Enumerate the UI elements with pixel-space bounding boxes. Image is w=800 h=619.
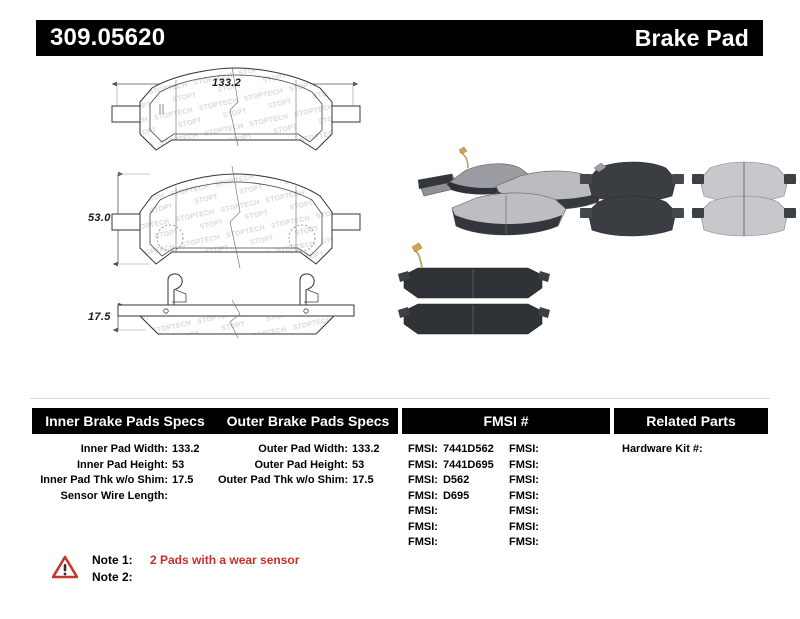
- fmsi-value: [544, 489, 610, 505]
- column-outer-specs: Outer Brake Pads Specs Outer Pad Width: …: [218, 408, 398, 489]
- fmsi-key: FMSI:: [408, 504, 443, 520]
- spec-label: Outer Pad Thk w/o Shim:: [218, 473, 352, 489]
- fmsi-row: FMSI:: [509, 489, 610, 505]
- note-row: Note 2:: [92, 569, 299, 586]
- fmsi-value: D695: [443, 489, 509, 505]
- fmsi-row: FMSI:: [408, 535, 509, 551]
- fmsi-value: [544, 535, 610, 551]
- photo-flatlay-pad-set: [580, 162, 796, 236]
- fmsi-row: FMSI:: [509, 473, 610, 489]
- specifications-table: Inner Brake Pads Specs Inner Pad Width: …: [32, 408, 768, 551]
- fmsi-value: [544, 520, 610, 536]
- fmsi-value: [544, 473, 610, 489]
- fmsi-row: FMSI:: [509, 442, 610, 458]
- column-related-parts: Related Parts Hardware Kit #:: [614, 408, 768, 458]
- spec-value: 53: [172, 458, 218, 474]
- fmsi-value: D562: [443, 473, 509, 489]
- fmsi-key: FMSI:: [509, 442, 544, 458]
- page-title: Brake Pad: [635, 25, 749, 52]
- fmsi-value: [544, 458, 610, 474]
- fmsi-key: FMSI:: [509, 473, 544, 489]
- warning-triangle-icon: [52, 555, 78, 579]
- part-number: 309.05620: [50, 24, 165, 52]
- fmsi-key: FMSI:: [509, 520, 544, 536]
- fmsi-value: 7441D695: [443, 458, 509, 474]
- spec-label: Inner Pad Height:: [32, 458, 172, 474]
- table-top-divider: [30, 398, 770, 399]
- spec-value: 133.2: [352, 442, 398, 458]
- spec-label: Inner Pad Width:: [32, 442, 172, 458]
- fmsi-value: [443, 535, 509, 551]
- spec-row: Sensor Wire Length:: [32, 489, 218, 505]
- spec-row: Outer Pad Height: 53: [218, 458, 398, 474]
- note-value: [144, 569, 150, 586]
- fmsi-key: FMSI:: [408, 535, 443, 551]
- fmsi-row: FMSI: 7441D695: [408, 458, 509, 474]
- fmsi-row: FMSI:: [509, 504, 610, 520]
- technical-drawings-svg: STOPTECH STOPTECH: [0, 62, 800, 392]
- fmsi-key: FMSI:: [509, 489, 544, 505]
- fmsi-key: FMSI:: [408, 489, 443, 505]
- drawing-edge-view: [118, 274, 354, 338]
- fmsi-key: FMSI:: [408, 458, 443, 474]
- spec-value: 53: [352, 458, 398, 474]
- column-body-fmsi: FMSI: 7441D562 FMSI: 7441D695 FMSI: D562…: [402, 434, 610, 551]
- fmsi-row: FMSI: D695: [408, 489, 509, 505]
- fmsi-value: [544, 504, 610, 520]
- spec-row: Inner Pad Thk w/o Shim: 17.5: [32, 473, 218, 489]
- drawing-area: STOPTECH STOPTECH: [0, 62, 800, 392]
- photo-angled-pad-set: [418, 147, 604, 235]
- fmsi-key: FMSI:: [408, 520, 443, 536]
- column-body-outer-specs: Outer Pad Width: 133.2 Outer Pad Height:…: [218, 434, 398, 489]
- fmsi-row: FMSI:: [509, 520, 610, 536]
- spec-value: 133.2: [172, 442, 218, 458]
- fmsi-value: 7441D562: [443, 442, 509, 458]
- column-inner-specs: Inner Brake Pads Specs Inner Pad Width: …: [32, 408, 218, 504]
- related-parts-row: Hardware Kit #:: [614, 442, 768, 458]
- drawing-front-view: [112, 166, 360, 268]
- fmsi-row: FMSI:: [408, 520, 509, 536]
- fmsi-row: FMSI: 7441D562: [408, 442, 509, 458]
- fmsi-key: FMSI:: [408, 442, 443, 458]
- fmsi-key: FMSI:: [509, 504, 544, 520]
- spec-label: Sensor Wire Length:: [32, 489, 172, 505]
- notes-lines: Note 1: 2 Pads with a wear sensor Note 2…: [92, 552, 299, 586]
- note-value: 2 Pads with a wear sensor: [144, 552, 299, 569]
- spec-value: 17.5: [172, 473, 218, 489]
- column-body-inner-specs: Inner Pad Width: 133.2 Inner Pad Height:…: [32, 434, 218, 504]
- spec-value: 17.5: [352, 473, 398, 489]
- fmsi-row: FMSI: D562: [408, 473, 509, 489]
- fmsi-value: [443, 520, 509, 536]
- fmsi-row: FMSI:: [509, 535, 610, 551]
- spec-row: Inner Pad Width: 133.2: [32, 442, 218, 458]
- dimension-label-width: 133.2: [212, 77, 241, 89]
- notes-section: Note 1: 2 Pads with a wear sensor Note 2…: [52, 552, 299, 586]
- note-key: Note 2:: [92, 569, 144, 586]
- column-header-fmsi: FMSI #: [402, 408, 610, 434]
- fmsi-key: FMSI:: [408, 473, 443, 489]
- column-header-related-parts: Related Parts: [614, 408, 768, 434]
- spec-row: Outer Pad Width: 133.2: [218, 442, 398, 458]
- photo-edge-pad-pair: [398, 243, 550, 334]
- column-header-outer-specs: Outer Brake Pads Specs: [218, 408, 398, 434]
- page-header-bar: 309.05620 Brake Pad: [36, 20, 763, 56]
- spec-label: Inner Pad Thk w/o Shim:: [32, 473, 172, 489]
- spec-row: Inner Pad Height: 53: [32, 458, 218, 474]
- column-body-related-parts: Hardware Kit #:: [614, 434, 768, 458]
- spec-label: Outer Pad Width:: [218, 442, 352, 458]
- dimension-label-thickness: 17.5: [88, 311, 111, 323]
- fmsi-key: FMSI:: [509, 458, 544, 474]
- note-row: Note 1: 2 Pads with a wear sensor: [92, 552, 299, 569]
- fmsi-value: [544, 442, 610, 458]
- fmsi-key: FMSI:: [509, 535, 544, 551]
- dimension-label-height: 53.0: [88, 212, 111, 224]
- fmsi-subcolumn-left: FMSI: 7441D562 FMSI: 7441D695 FMSI: D562…: [408, 442, 509, 551]
- fmsi-row: FMSI:: [509, 458, 610, 474]
- spec-value: [172, 489, 218, 505]
- column-fmsi: FMSI # FMSI: 7441D562 FMSI: 7441D695 FMS…: [402, 408, 610, 551]
- fmsi-subcolumn-right: FMSI: FMSI: FMSI: FMSI:: [509, 442, 610, 551]
- fmsi-value: [443, 504, 509, 520]
- spec-row: Outer Pad Thk w/o Shim: 17.5: [218, 473, 398, 489]
- note-key: Note 1:: [92, 552, 144, 569]
- fmsi-row: FMSI:: [408, 504, 509, 520]
- column-header-inner-specs: Inner Brake Pads Specs: [32, 408, 218, 434]
- spec-label: Outer Pad Height:: [218, 458, 352, 474]
